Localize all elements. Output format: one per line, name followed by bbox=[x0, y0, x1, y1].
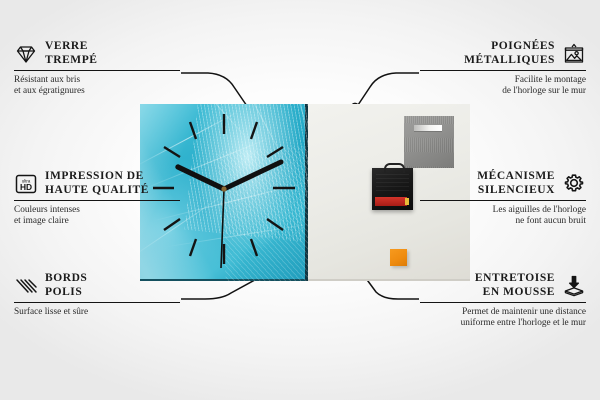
feature-header: VERRE TREMPÉ bbox=[14, 40, 199, 67]
divider bbox=[420, 70, 586, 71]
infographic-canvas: VERRE TREMPÉ Résistant aux bris et aux é… bbox=[0, 0, 600, 400]
feature-poignees-metalliques: POIGNÉES MÉTALLIQUES Facilite le montage… bbox=[401, 40, 586, 98]
feature-description: Permet de maintenir une distance uniform… bbox=[401, 307, 586, 330]
hands-hub bbox=[221, 186, 226, 191]
feature-entretoise-en-mousse: ENTRETOISE EN MOUSSE Permet de maintenir… bbox=[401, 272, 586, 330]
feature-title: IMPRESSION DE HAUTE QUALITÉ bbox=[45, 170, 149, 197]
feature-title: ENTRETOISE EN MOUSSE bbox=[475, 272, 555, 299]
divider bbox=[14, 70, 180, 71]
divider bbox=[420, 302, 586, 303]
feature-description: Résistant aux bris et aux égratignures bbox=[14, 75, 199, 98]
feature-mecanisme-silencieux: MÉCANISME SILENCIEUX Les aiguilles de l'… bbox=[401, 170, 586, 228]
minute-hand bbox=[224, 162, 281, 189]
feature-description: Facilite le montage de l'horloge sur le … bbox=[401, 75, 586, 98]
feature-header: ENTRETOISE EN MOUSSE bbox=[401, 272, 586, 299]
foam-spacer-icon bbox=[562, 274, 586, 298]
feature-bords-polis: BORDS POLIS Surface lisse et sûre bbox=[14, 272, 199, 318]
feature-verre-trempe: VERRE TREMPÉ Résistant aux bris et aux é… bbox=[14, 40, 199, 98]
feature-title: VERRE TREMPÉ bbox=[45, 40, 98, 67]
divider bbox=[14, 200, 180, 201]
metal-hanger-plate bbox=[404, 116, 454, 168]
feature-title: MÉCANISME SILENCIEUX bbox=[477, 170, 555, 197]
divider bbox=[14, 302, 180, 303]
feature-header: BORDS POLIS bbox=[14, 272, 199, 299]
feature-header: POIGNÉES MÉTALLIQUES bbox=[401, 40, 586, 67]
gear-icon bbox=[562, 172, 586, 196]
divider bbox=[420, 200, 586, 201]
feature-description: Les aiguilles de l'horloge ne font aucun… bbox=[401, 205, 586, 228]
feature-title: BORDS POLIS bbox=[45, 272, 87, 299]
polished-edges-icon bbox=[14, 274, 38, 298]
foam-spacer bbox=[390, 249, 407, 266]
feature-description: Couleurs intenses et image claire bbox=[14, 205, 199, 228]
feature-header: MÉCANISME SILENCIEUX bbox=[401, 170, 586, 197]
feature-description: Surface lisse et sûre bbox=[14, 307, 199, 318]
picture-hanger-icon bbox=[562, 42, 586, 66]
feature-header: ultra HD IMPRESSION DE HAUTE QUALITÉ bbox=[14, 170, 199, 197]
svg-text:HD: HD bbox=[20, 182, 32, 192]
feature-impression-haute-qualite: ultra HD IMPRESSION DE HAUTE QUALITÉ Cou… bbox=[14, 170, 199, 228]
hanger-slot bbox=[414, 125, 442, 131]
ultra-hd-icon: ultra HD bbox=[14, 172, 38, 196]
feature-title: POIGNÉES MÉTALLIQUES bbox=[464, 40, 555, 67]
diamond-icon bbox=[14, 42, 38, 66]
